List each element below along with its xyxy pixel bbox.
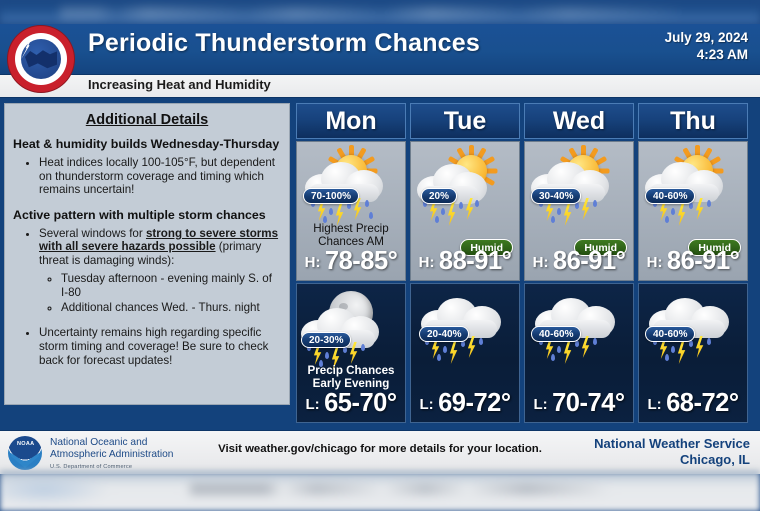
day-caption-mon: Highest Precip Chances AM (297, 222, 405, 249)
high-value: 78-85° (325, 247, 397, 275)
day-header-tue: Tue (410, 103, 520, 139)
high-label: H: (305, 254, 321, 271)
high-label: H: (647, 254, 663, 271)
low-value: 65-70° (324, 389, 396, 417)
blurred-text-ghost (190, 483, 610, 495)
night-panel-wed: 40-60% L: 70-74° (524, 283, 634, 423)
low-temperature: L: 65-70° (297, 389, 405, 418)
weather-graphic-card: Periodic Thunderstorm Chances July 29, 2… (0, 24, 760, 472)
day-name: Thu (670, 107, 716, 136)
issuance-time: 4:23 AM (665, 46, 748, 63)
sun-behind-thunderstorm-cloud-icon: 30-40% (527, 146, 631, 222)
details-section1-bullets: Heat indices locally 100-105°F, but depe… (13, 156, 281, 197)
low-label: L: (533, 396, 547, 413)
night-caption-mon: Precip Chances Early Evening (297, 364, 405, 391)
low-label: L: (647, 396, 661, 413)
precip-chance-badge: 30-40% (531, 188, 581, 204)
high-label: H: (533, 254, 549, 271)
thunderstorm-cloud-icon: 40-60% (527, 288, 631, 364)
list-item: Tuesday afternoon - evening mainly S. of… (61, 272, 281, 301)
day-header-wed: Wed (524, 103, 634, 139)
day-panel-tue: 20% Humid H: 88-91° (410, 141, 520, 281)
high-value: 88-91° (439, 247, 511, 275)
low-value: 70-74° (552, 389, 624, 417)
low-value: 69-72° (438, 389, 510, 417)
low-label: L: (305, 396, 319, 413)
precip-chance-badge: 40-60% (531, 326, 581, 342)
low-value: 68-72° (666, 389, 738, 417)
forecast-column-thu[interactable]: Thu (638, 103, 748, 425)
day-header-thu: Thu (638, 103, 748, 139)
office-line-2: Chicago, IL (594, 452, 750, 468)
national-weather-service-seal-icon (8, 26, 74, 92)
graphic-footer: NOAA National Oceanic and Atmospheric Ad… (0, 430, 760, 474)
precip-chance-badge: 70-100% (303, 188, 359, 204)
details-sub-bullets: Tuesday afternoon - evening mainly S. of… (39, 272, 281, 316)
high-temperature: H: 78-85° (297, 247, 405, 276)
forecast-columns: Mon (296, 103, 756, 425)
sun-behind-thunderstorm-cloud-icon: 70-100% (299, 146, 403, 222)
precip-chance-badge: 40-60% (645, 188, 695, 204)
list-item: Additional chances Wed. - Thurs. night (61, 301, 281, 316)
low-temperature: L: 70-74° (525, 389, 633, 418)
precip-chance-badge: 20-30% (301, 332, 351, 348)
day-panel-thu: 40-60% Humid H: 86-91° (638, 141, 748, 281)
day-name: Wed (553, 107, 605, 136)
low-label: L: (419, 396, 433, 413)
blurred-top-band (0, 0, 760, 26)
caption-line-1: Highest Precip (297, 222, 405, 235)
blurred-bottom-band (0, 471, 760, 511)
high-label: H: (419, 254, 435, 271)
precip-chance-badge: 20-40% (419, 326, 469, 342)
forecast-column-tue[interactable]: Tue (410, 103, 520, 425)
subtitle-bar: Increasing Heat and Humidity (0, 74, 760, 98)
issuance-date: July 29, 2024 (665, 29, 748, 46)
high-temperature: H: 86-91° (639, 247, 747, 276)
high-temperature: H: 88-91° (411, 247, 519, 276)
day-header-mon: Mon (296, 103, 406, 139)
details-section2-bullets: Several windows for strong to severe sto… (13, 227, 281, 316)
office-line-1: National Weather Service (594, 436, 750, 452)
day-name: Mon (325, 107, 376, 136)
caption-line-1: Precip Chances (297, 364, 405, 377)
graphic-header: Periodic Thunderstorm Chances July 29, 2… (0, 24, 760, 74)
thunderstorm-cloud-icon: 20-40% (413, 288, 517, 364)
bullet-text-pre: Several windows for (39, 227, 146, 240)
low-temperature: L: 69-72° (411, 389, 519, 418)
night-panel-thu: 40-60% L: 68-72° (638, 283, 748, 423)
high-value: 86-91° (667, 247, 739, 275)
high-value: 86-91° (553, 247, 625, 275)
night-panel-tue: 20-40% L: 69-72° (410, 283, 520, 423)
page-subtitle: Increasing Heat and Humidity (88, 77, 271, 92)
issuance-datetime: July 29, 2024 4:23 AM (665, 29, 748, 63)
high-temperature: H: 86-91° (525, 247, 633, 276)
moon-behind-thunderstorm-cloud-icon: 20-30% (299, 288, 403, 364)
low-temperature: L: 68-72° (639, 389, 747, 418)
sun-behind-thunderstorm-cloud-icon: 40-60% (641, 146, 745, 222)
page-title: Periodic Thunderstorm Chances (88, 29, 480, 58)
precip-chance-badge: 40-60% (645, 326, 695, 342)
sun-behind-thunderstorm-cloud-icon: 20% (413, 146, 517, 222)
day-panel-wed: 30-40% Humid H: 86-91° (524, 141, 634, 281)
forecast-column-mon[interactable]: Mon (296, 103, 406, 425)
list-item: Heat indices locally 100-105°F, but depe… (39, 156, 281, 197)
list-item: Several windows for strong to severe sto… (39, 227, 281, 316)
precip-chance-badge: 20% (421, 188, 457, 204)
blurred-logo-ghost (0, 475, 110, 505)
night-panel-mon: 20-30% Precip Chances Early Evening L: 6… (296, 283, 406, 423)
additional-details-panel: Additional Details Heat & humidity build… (4, 103, 290, 405)
blurred-text-ghost (60, 6, 680, 20)
thunderstorm-cloud-icon: 40-60% (641, 288, 745, 364)
list-item: Uncertainty remains high regarding speci… (39, 326, 281, 367)
forecast-column-wed[interactable]: Wed (524, 103, 634, 425)
details-section2-heading: Active pattern with multiple storm chanc… (13, 208, 281, 222)
day-panel-mon: 70-100% Highest Precip Chances AM H: 78-… (296, 141, 406, 281)
details-section3-bullets: Uncertainty remains high regarding speci… (13, 326, 281, 367)
details-section1-heading: Heat & humidity builds Wednesday-Thursda… (13, 137, 281, 151)
graphic-body: Additional Details Heat & humidity build… (0, 98, 760, 430)
day-name: Tue (444, 107, 487, 136)
additional-details-heading: Additional Details (13, 112, 281, 128)
issuing-office: National Weather Service Chicago, IL (594, 436, 750, 468)
